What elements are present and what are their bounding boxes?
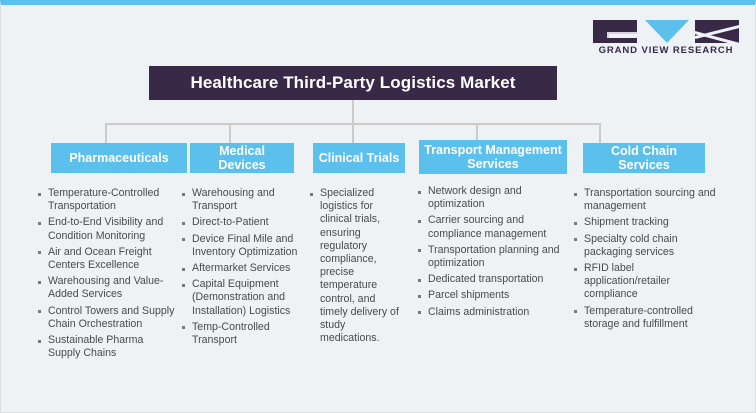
bullet-list-pharmaceuticals: Temperature-Controlled Transportation En… (37, 187, 175, 360)
column-transport-management-services: Transport Management Services Network de… (417, 143, 569, 322)
category-header-pharmaceuticals[interactable]: Pharmaceuticals (51, 143, 187, 173)
logo-wordmark: GRAND VIEW RESEARCH (593, 45, 739, 56)
list-item: Aftermarket Services (181, 262, 305, 275)
category-title: Transport Management Services (423, 143, 563, 172)
list-item: Transportation planning and optimization (417, 244, 561, 270)
category-title: Medical Devices (194, 144, 290, 173)
connector-branch-pharmaceuticals (105, 123, 107, 143)
list-item: Temperature-Controlled Transportation (37, 187, 175, 213)
column-clinical-trials: Clinical Trials Specialized logistics fo… (309, 143, 413, 348)
logo-letter-g-icon (593, 20, 637, 43)
connector-trunk-vertical (352, 100, 354, 123)
column-medical-devices: Medical Devices Warehousing and Transpor… (181, 143, 309, 350)
list-item: Air and Ocean Freight Centers Excellence (37, 246, 175, 272)
diagram-canvas: GRAND VIEW RESEARCH Healthcare Third-Par… (0, 0, 756, 413)
category-header-medical-devices[interactable]: Medical Devices (190, 143, 294, 173)
bullet-list-cold-chain-services: Transportation sourcing and management S… (573, 187, 721, 331)
list-item: Transportation sourcing and management (573, 187, 721, 213)
connector-branch-clinical-trials (352, 123, 354, 143)
list-item: Network design and optimization (417, 185, 561, 211)
list-item: Temperature-controlled storage and fulfi… (573, 305, 721, 331)
logo-letter-v-icon (645, 20, 689, 43)
list-item: Sustainable Pharma Supply Chains (37, 334, 175, 360)
list-item: End-to-End Visibility and Condition Moni… (37, 216, 175, 242)
column-pharmaceuticals: Pharmaceuticals Temperature-Controlled T… (37, 143, 177, 363)
list-item: Device Final Mile and Inventory Optimiza… (181, 233, 305, 259)
logo-letter-r-icon (695, 20, 739, 43)
connector-branch-medical-devices (229, 123, 231, 143)
category-header-cold-chain-services[interactable]: Cold Chain Services (583, 143, 705, 173)
category-title: Clinical Trials (319, 151, 400, 165)
list-item: Specialized logistics for clinical trial… (309, 187, 401, 345)
category-header-clinical-trials[interactable]: Clinical Trials (313, 143, 405, 173)
category-title: Pharmaceuticals (69, 151, 168, 165)
logo-mark (593, 18, 739, 43)
grand-view-research-logo: GRAND VIEW RESEARCH (593, 18, 739, 60)
list-item: Dedicated transportation (417, 273, 561, 286)
column-cold-chain-services: Cold Chain Services Transportation sourc… (573, 143, 723, 334)
list-item: Warehousing and Transport (181, 187, 305, 213)
list-item: Parcel shipments (417, 289, 561, 302)
bullet-list-transport-management-services: Network design and optimization Carrier … (417, 185, 561, 319)
list-item: Temp-Controlled Transport (181, 321, 305, 347)
bullet-list-clinical-trials: Specialized logistics for clinical trial… (309, 187, 401, 345)
category-header-transport-management-services[interactable]: Transport Management Services (419, 140, 567, 174)
list-item: Capital Equipment (Demonstration and Ins… (181, 278, 305, 318)
diagram-title-box: Healthcare Third-Party Logistics Market (149, 66, 557, 100)
category-title: Cold Chain Services (587, 144, 701, 173)
list-item: Warehousing and Value-Added Services (37, 275, 175, 301)
logo-letter-g-notch (607, 32, 637, 38)
list-item: Claims administration (417, 306, 561, 319)
list-item: Direct-to-Patient (181, 216, 305, 229)
list-item: Carrier sourcing and compliance manageme… (417, 214, 561, 240)
bullet-list-medical-devices: Warehousing and Transport Direct-to-Pati… (181, 187, 305, 347)
list-item: Shipment tracking (573, 216, 721, 229)
list-item: Specialty cold chain packaging services (573, 233, 721, 259)
page-title: Healthcare Third-Party Logistics Market (190, 73, 515, 93)
connector-branch-cold-chain-services (599, 123, 601, 143)
list-item: RFID label application/retailer complian… (573, 262, 721, 302)
list-item: Control Towers and Supply Chain Orchestr… (37, 305, 175, 331)
